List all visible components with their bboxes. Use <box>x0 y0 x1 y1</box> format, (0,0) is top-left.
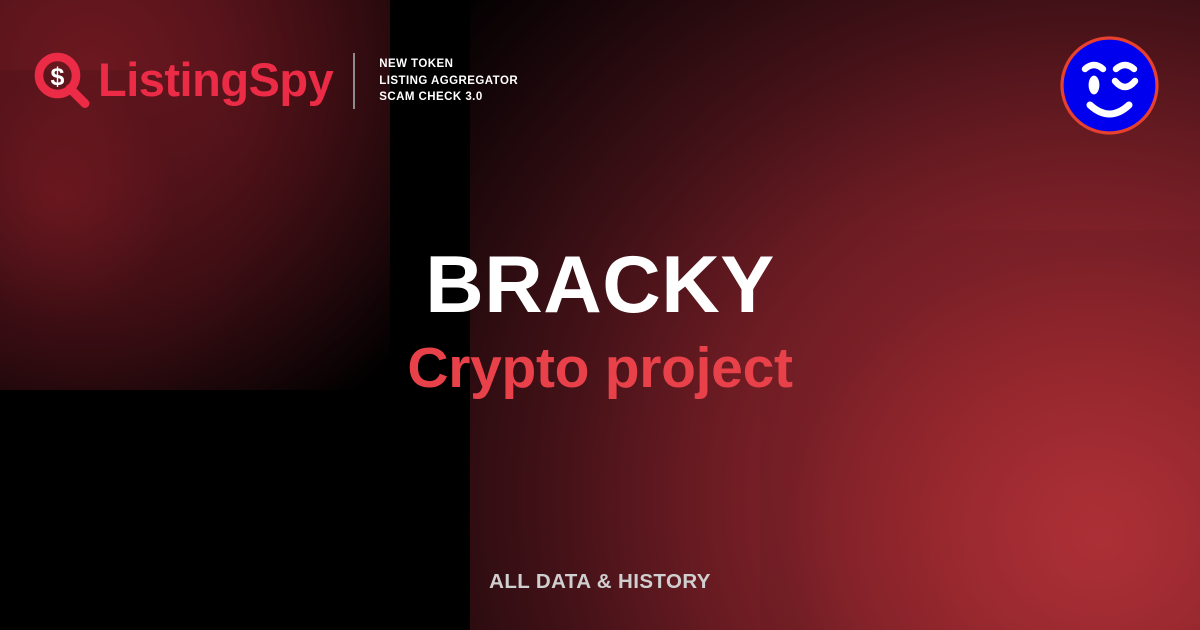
page-title: BRACKY <box>0 244 1200 327</box>
page-subtitle: Crypto project <box>0 339 1200 399</box>
magnifier-dollar-icon: $ <box>34 52 92 110</box>
avatar[interactable] <box>1059 35 1160 136</box>
main-content: BRACKY Crypto project <box>0 244 1200 398</box>
svg-text:$: $ <box>51 63 65 91</box>
footer-label: ALL DATA & HISTORY <box>0 570 1200 594</box>
tagline-line-3: SCAM CHECK 3.0 <box>379 90 518 105</box>
brand-tagline: NEW TOKEN LISTING AGGREGATOR SCAM CHECK … <box>379 57 518 105</box>
brand-logo-lockup[interactable]: $ ListingSpy <box>34 52 333 110</box>
footer: ALL DATA & HISTORY <box>0 570 1200 594</box>
header: $ ListingSpy NEW TOKEN LISTING AGGREGATO… <box>34 52 518 110</box>
header-divider <box>353 53 355 109</box>
winking-face-avatar-icon <box>1059 35 1160 136</box>
tagline-line-2: LISTING AGGREGATOR <box>379 74 518 89</box>
tagline-line-1: NEW TOKEN <box>379 57 518 72</box>
og-card: $ ListingSpy NEW TOKEN LISTING AGGREGATO… <box>0 0 1200 630</box>
brand-wordmark: ListingSpy <box>98 56 333 107</box>
